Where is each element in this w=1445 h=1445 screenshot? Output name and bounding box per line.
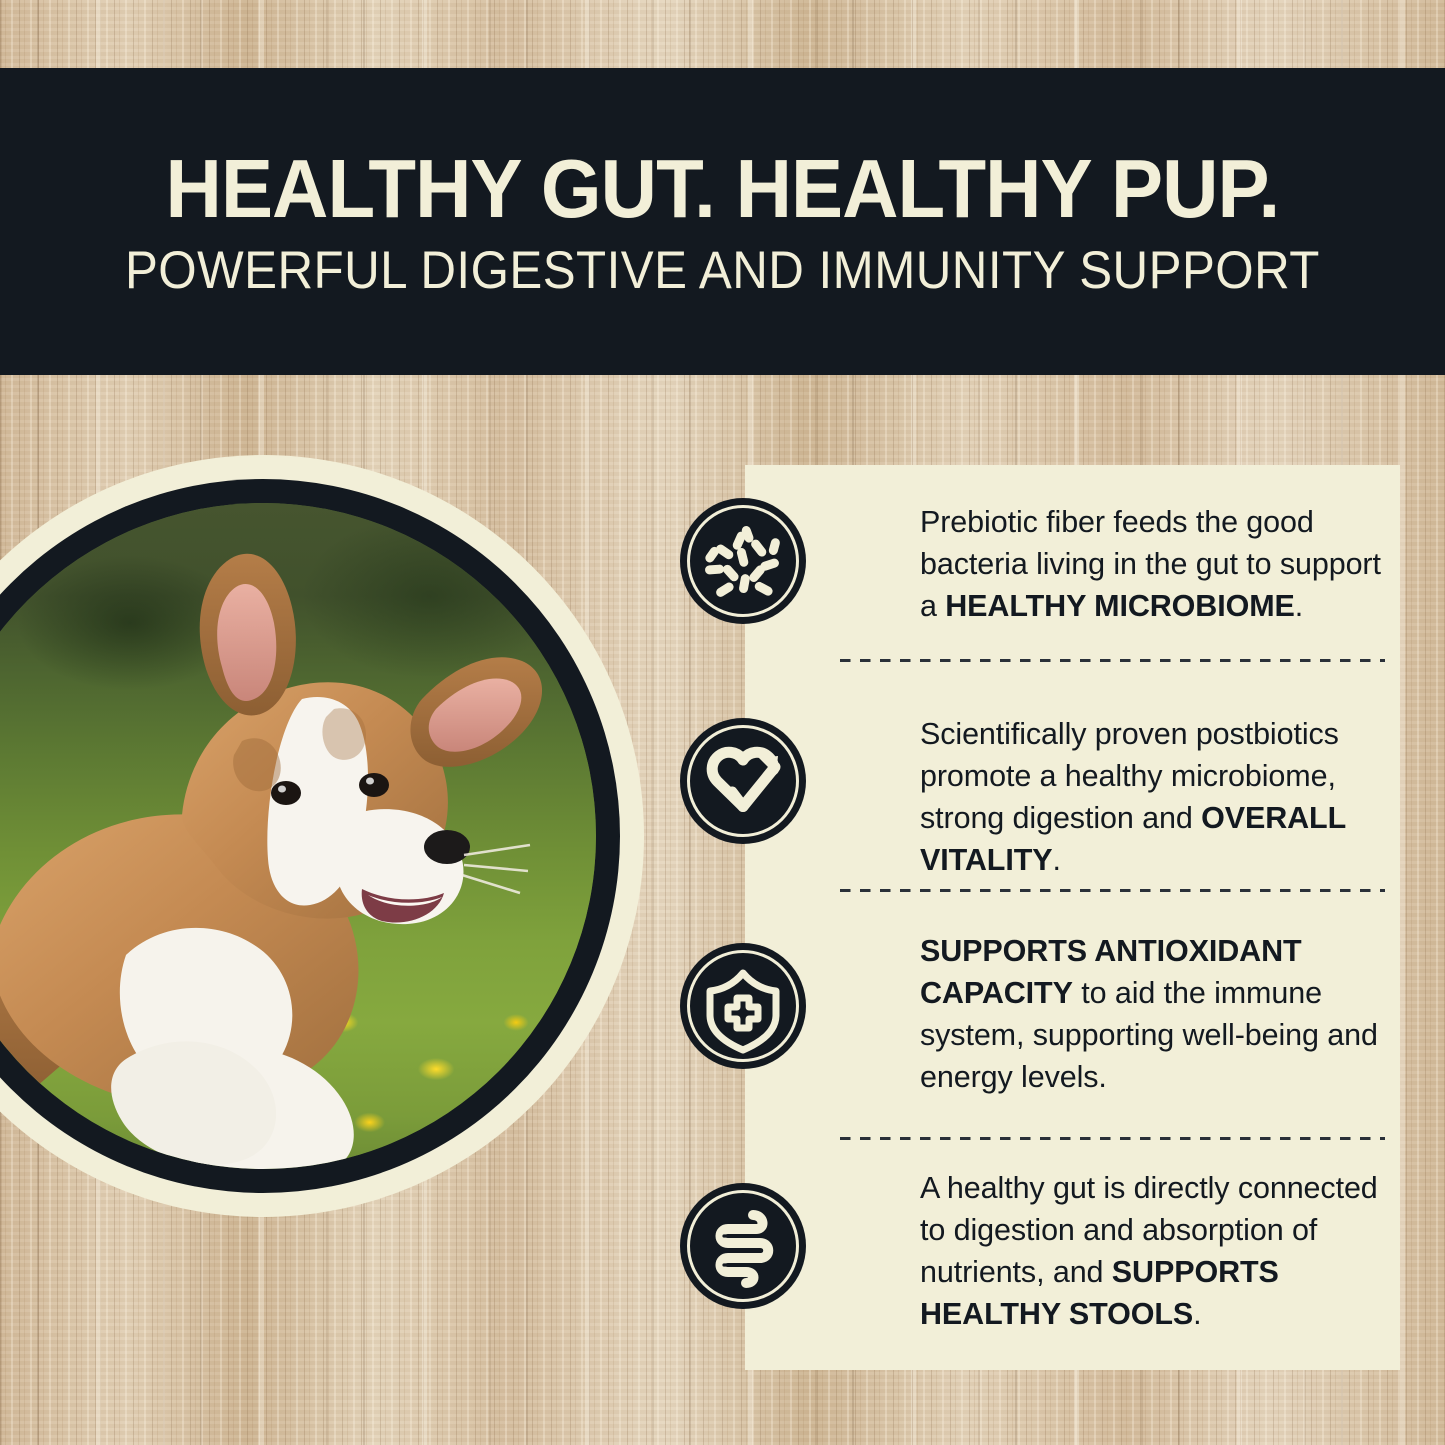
intestine-icon bbox=[680, 1183, 806, 1309]
benefit-text-3: SUPPORTS ANTIOXIDANT CAPACITY to aid the… bbox=[920, 930, 1390, 1098]
heart-arrow-icon bbox=[680, 718, 806, 844]
benefit-text-4: A healthy gut is directly connected to d… bbox=[920, 1167, 1390, 1335]
benefit-2-part-3: . bbox=[1053, 843, 1061, 877]
dog-photo-frame bbox=[0, 455, 644, 1217]
page-subtitle: POWERFUL DIGESTIVE AND IMMUNITY SUPPORT bbox=[125, 244, 1320, 297]
benefit-4-part-3: . bbox=[1193, 1297, 1201, 1331]
benefit-divider-3 bbox=[840, 1137, 1385, 1140]
heart-arrow-icon-glyph bbox=[680, 718, 806, 844]
shield-cross-icon-glyph bbox=[680, 943, 806, 1069]
benefit-text-1: Prebiotic fiber feeds the good bacteria … bbox=[920, 501, 1390, 627]
benefit-icon-3 bbox=[680, 943, 806, 1069]
benefit-1-part-2: HEALTHY MICROBIOME bbox=[945, 589, 1295, 623]
benefit-icon-1 bbox=[680, 498, 806, 624]
bacteria-icon bbox=[680, 498, 806, 624]
intestine-icon-glyph bbox=[680, 1183, 806, 1309]
header-band: HEALTHY GUT. HEALTHY PUP. POWERFUL DIGES… bbox=[0, 68, 1445, 375]
benefit-divider-2 bbox=[840, 889, 1385, 892]
benefits-list: Prebiotic fiber feeds the good bacteria … bbox=[745, 465, 1400, 1370]
bacteria-icon-glyph bbox=[680, 498, 806, 624]
benefit-icon-4 bbox=[680, 1183, 806, 1309]
product-benefits-infographic: HEALTHY GUT. HEALTHY PUP. POWERFUL DIGES… bbox=[0, 0, 1445, 1445]
shield-cross-icon bbox=[680, 943, 806, 1069]
leaping-dog-illustration bbox=[0, 503, 596, 1169]
benefit-text-2: Scientifically proven postbiotics promot… bbox=[920, 713, 1390, 881]
page-title: HEALTHY GUT. HEALTHY PUP. bbox=[166, 147, 1280, 230]
benefit-divider-1 bbox=[840, 659, 1385, 662]
benefit-icon-2 bbox=[680, 718, 806, 844]
benefit-1-part-3: . bbox=[1295, 589, 1303, 623]
dog-photo bbox=[0, 503, 596, 1169]
